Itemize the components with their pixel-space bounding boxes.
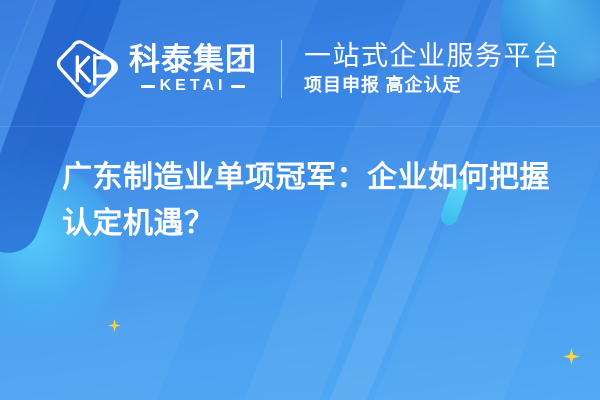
brand-name-en: KETAI (160, 78, 227, 94)
header-vertical-divider (281, 40, 282, 98)
ketai-diamond-kd-logo-icon (56, 38, 118, 100)
page-title: 广东制造业单项冠军：企业如何把握认定机遇？ (62, 155, 552, 246)
brand-rule-left-icon (141, 85, 155, 88)
brand-logo[interactable]: 科泰集团 KETAI (56, 38, 257, 100)
sparkle-star-icon (563, 348, 580, 365)
banner-header: 科泰集团 KETAI 一站式企业服务平台 项目申报 高企认定 (0, 38, 600, 100)
brand-rule-right-icon (231, 85, 245, 88)
header-divider (0, 126, 600, 127)
brand-name-cn: 科泰集团 (129, 44, 257, 75)
slogan-sub: 项目申报 高企认定 (304, 76, 561, 96)
slogan-main: 一站式企业服务平台 (304, 42, 561, 70)
brand-text-block: 科泰集团 KETAI (129, 44, 257, 94)
sparkle-star-icon (108, 319, 121, 332)
brand-name-en-row: KETAI (129, 78, 257, 94)
article-cover-banner: 科泰集团 KETAI 一站式企业服务平台 项目申报 高企认定 广东制造业单项冠军… (0, 0, 600, 400)
slogan-block: 一站式企业服务平台 项目申报 高企认定 (304, 42, 561, 96)
